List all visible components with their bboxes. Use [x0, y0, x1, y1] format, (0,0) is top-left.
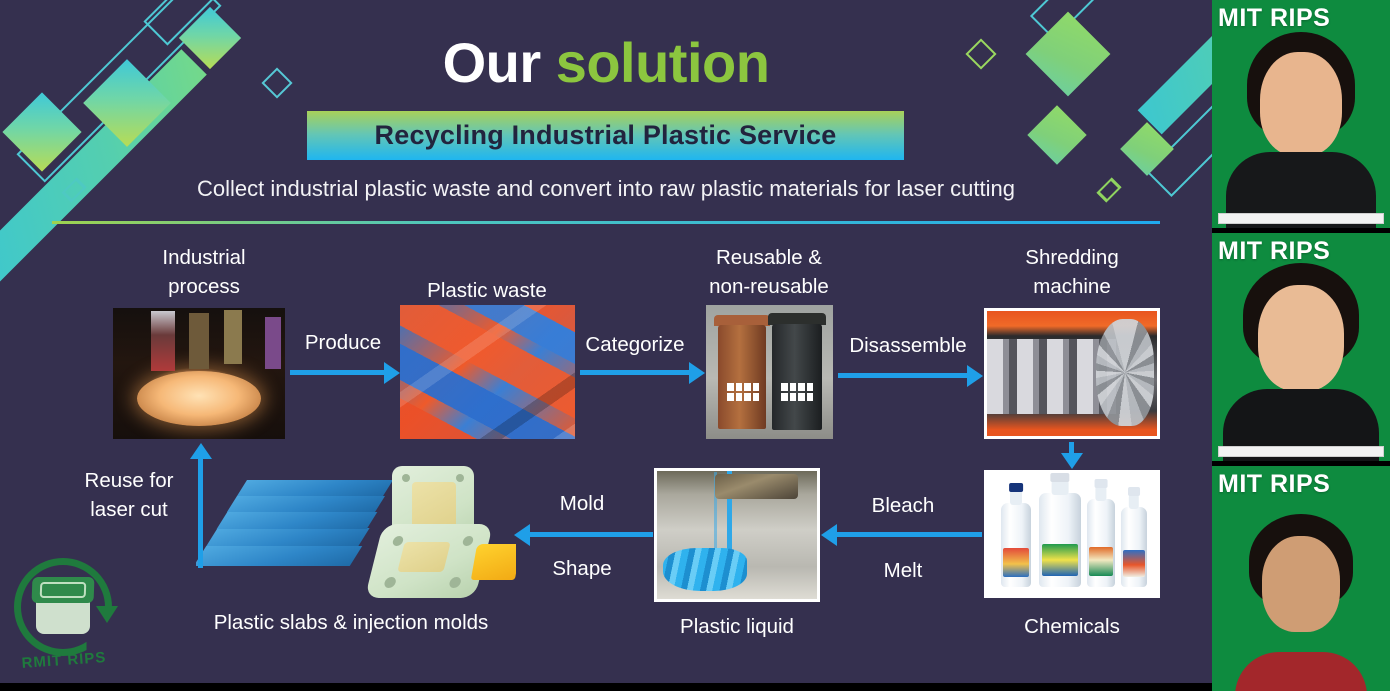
arrow-bleach-melt: [836, 532, 982, 537]
mold-lower-hole-4: [448, 577, 462, 588]
edge-label-disassemble: Disassemble: [818, 334, 998, 358]
node-label-plastic-slabs: Plastic slabs & injection molds: [158, 608, 544, 637]
deco-square-tr-2: [1027, 105, 1086, 164]
photo-industrial-process: [113, 308, 285, 439]
mold-lower-hole-3: [383, 577, 397, 588]
participant-2-face: [1258, 285, 1344, 391]
arrow-produce: [290, 370, 385, 375]
video-tile-participant-2[interactable]: MIT RIPS: [1212, 233, 1390, 461]
photo-reusable-bins: [706, 305, 833, 439]
mold-lower-hole-1: [392, 536, 404, 546]
participant-2-label: MIT RIPS: [1218, 237, 1330, 266]
arrow-categorize: [580, 370, 690, 375]
node-label-shredding-machine: Shredding machine: [977, 243, 1167, 301]
screen: Our solution Recycling Industrial Plasti…: [0, 0, 1390, 691]
node-label-plastic-liquid: Plastic liquid: [642, 612, 832, 641]
video-tile-participant-1[interactable]: MIT RIPS: [1212, 0, 1390, 228]
ribbon-banner: Recycling Industrial Plastic Service: [307, 111, 904, 160]
bottle-1-label: [1003, 548, 1029, 577]
logo-text: RMIT RIPS: [10, 648, 119, 672]
header-divider: [52, 221, 1160, 224]
photo-shredding-machine: [984, 308, 1160, 439]
node-label-industrial-process: Industrial process: [109, 243, 299, 301]
title-word-1: Our: [443, 31, 541, 94]
slab-3: [217, 512, 378, 529]
bottle-4: [1121, 507, 1147, 587]
arrow-reuse-head: [190, 443, 212, 459]
photo-plastic-liquid: [654, 468, 820, 602]
mold-lower-hole-2: [462, 536, 474, 546]
bottle-3: [1087, 499, 1115, 587]
node-label-plastic-waste: Plastic waste: [392, 276, 582, 305]
arrow-shred-to-chemicals: [1069, 442, 1074, 454]
slab-2: [206, 528, 369, 546]
video-tile-participant-3[interactable]: MIT RIPS: [1212, 466, 1390, 691]
arrow-disassemble: [838, 373, 968, 378]
bottle-3-label: [1089, 547, 1114, 577]
bottle-4-neck: [1129, 494, 1139, 509]
node-label-reusable: Reusable & non-reusable: [674, 243, 864, 301]
extruder-nozzle: [715, 474, 798, 500]
participant-1-label: MIT RIPS: [1218, 4, 1330, 33]
slab-4: [227, 496, 385, 512]
bottle-4-cap: [1128, 487, 1140, 496]
ribbon-label: Recycling Industrial Plastic Service: [375, 120, 837, 151]
bin-brown: [718, 325, 766, 429]
arrow-produce-head: [384, 362, 400, 384]
bottle-2-neck: [1052, 480, 1069, 495]
participant-3-body: [1235, 652, 1367, 691]
bottle-3-cap: [1095, 479, 1108, 488]
mold-upper-hole-2: [456, 474, 464, 482]
arrow-categorize-head: [689, 362, 705, 384]
bottle-2-cap: [1050, 473, 1069, 482]
bin-black-icons: [781, 383, 813, 401]
arrow-mold-shape-head: [514, 524, 530, 546]
participant-1-face: [1260, 52, 1342, 156]
mold-lower-core: [397, 542, 450, 572]
photo-chemicals: [984, 470, 1160, 598]
edge-label-produce: Produce: [253, 331, 433, 355]
bottle-1-neck: [1010, 490, 1022, 505]
bottle-1: [1001, 503, 1031, 587]
photo-plastic-waste: [400, 305, 575, 439]
arrow-mold-shape: [529, 532, 653, 537]
participant-3-label: MIT RIPS: [1218, 470, 1330, 499]
deco-square-tl-2: [2, 92, 81, 171]
edge-label-melt: Melt: [813, 559, 993, 583]
node-label-chemicals: Chemicals: [977, 612, 1167, 641]
bottle-3-neck: [1095, 486, 1106, 501]
logo-bin-lid-icon: [32, 577, 95, 603]
bottle-2: [1039, 493, 1081, 587]
rmit-rips-logo: RMIT RIPS: [8, 556, 120, 674]
edge-label-bleach: Bleach: [813, 494, 993, 518]
arrow-reuse-for-laser-cut: [198, 458, 203, 568]
slide-subtitle: Collect industrial plastic waste and con…: [0, 176, 1212, 202]
participant-1-bottom-bar: [1218, 213, 1384, 224]
bin-brown-icons: [727, 383, 759, 401]
presentation-slide: Our solution Recycling Industrial Plasti…: [0, 0, 1212, 683]
edge-label-reuse: Reuse for laser cut: [64, 466, 194, 524]
deco-square-tr-3: [1120, 122, 1174, 176]
edge-label-categorize: Categorize: [545, 333, 725, 357]
title-word-2: solution: [556, 31, 770, 94]
photo-plastic-slabs-molds: [196, 462, 516, 602]
edge-label-mold: Mold: [492, 492, 672, 516]
slab-1: [196, 546, 362, 566]
bin-black: [772, 324, 822, 430]
arrow-disassemble-head: [967, 365, 983, 387]
bottle-1-cap: [1009, 483, 1023, 492]
logo-recycle-arrow-icon: [96, 606, 118, 623]
participant-3-face: [1262, 536, 1340, 632]
participant-2-bottom-bar: [1218, 446, 1384, 457]
arrow-shred-to-chemicals-head: [1061, 453, 1083, 469]
bottle-2-label: [1042, 544, 1079, 576]
slide-bottom-bar: [0, 683, 1212, 691]
arrow-bleach-melt-head: [821, 524, 837, 546]
mold-upper-hole-1: [402, 474, 410, 482]
page-title: Our solution: [0, 30, 1212, 95]
edge-label-shape: Shape: [492, 557, 672, 581]
slab-5: [237, 480, 393, 496]
bottle-4-label: [1123, 550, 1146, 577]
